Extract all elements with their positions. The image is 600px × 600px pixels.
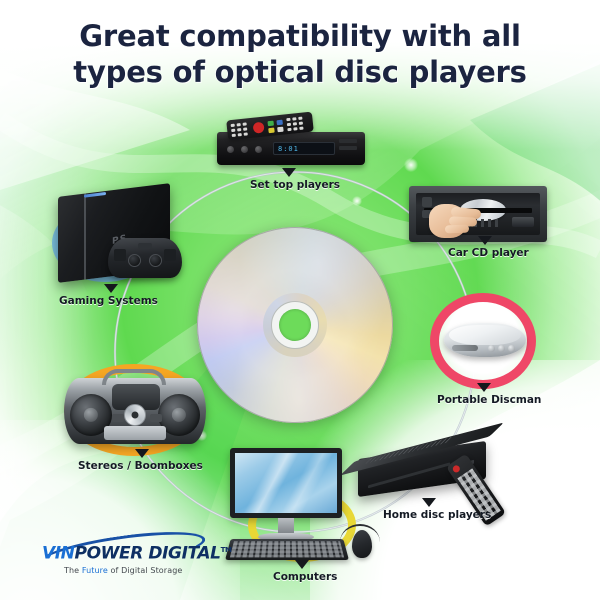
logo-wordmark: VINPOWER DIGITALTM bbox=[42, 540, 232, 564]
computer-monitor bbox=[230, 448, 342, 518]
label-car-cd-player: Car CD player bbox=[448, 247, 529, 259]
monitor-glare bbox=[235, 453, 337, 513]
headline: Great compatibility with all types of op… bbox=[0, 18, 600, 90]
headline-line-1: Great compatibility with all bbox=[0, 18, 600, 54]
label-computers: Computers bbox=[273, 571, 337, 583]
logo-trademark: TM bbox=[221, 546, 232, 554]
computer-keyboard bbox=[225, 539, 349, 560]
pointer-home-disc-players bbox=[422, 498, 436, 507]
boombox bbox=[64, 378, 206, 444]
pointer-set-top-players bbox=[282, 168, 296, 177]
logo-tagline-c: of Digital Storage bbox=[108, 566, 183, 575]
pointer-computers bbox=[295, 560, 309, 569]
disc-center-hole bbox=[279, 309, 311, 341]
boombox-control-panel bbox=[104, 426, 166, 440]
node-computers[interactable] bbox=[218, 444, 388, 564]
pointer-portable-discman bbox=[477, 383, 491, 392]
discman-lid bbox=[449, 325, 521, 345]
set-top-display-text: 8:01 bbox=[278, 145, 299, 153]
logo-brand-prefix: VIN bbox=[42, 544, 75, 564]
game-controller bbox=[108, 238, 182, 278]
node-gaming-systems[interactable]: PS bbox=[42, 182, 202, 294]
pointer-car-cd-player bbox=[478, 236, 492, 245]
label-set-top-players: Set top players bbox=[250, 179, 340, 191]
monitor-neck bbox=[278, 518, 294, 534]
portable-cd-player bbox=[444, 323, 526, 357]
node-stereos-boomboxes[interactable] bbox=[52, 362, 222, 458]
pointer-gaming-systems bbox=[104, 284, 118, 293]
headline-line-2: types of optical disc players bbox=[0, 54, 600, 90]
label-stereos-boomboxes: Stereos / Boomboxes bbox=[78, 460, 203, 472]
optical-disc bbox=[197, 227, 393, 423]
label-gaming-systems: Gaming Systems bbox=[59, 295, 158, 307]
computer-mouse bbox=[352, 530, 372, 558]
logo-brand-suffix: POWER DIGITAL bbox=[75, 544, 221, 564]
pointer-stereos-boomboxes bbox=[135, 449, 149, 458]
label-home-disc-players: Home disc players bbox=[383, 509, 491, 521]
brand-logo[interactable]: VINPOWER DIGITALTM The Future of Digital… bbox=[42, 540, 232, 575]
label-portable-discman: Portable Discman bbox=[437, 394, 541, 406]
boombox-disc bbox=[124, 404, 146, 426]
set-top-box-display: 8:01 bbox=[273, 142, 335, 155]
node-portable-discman[interactable] bbox=[430, 293, 548, 389]
boombox-handle bbox=[102, 369, 166, 385]
node-set-top-players[interactable]: 8:01 bbox=[205, 112, 385, 172]
infographic-canvas: Great compatibility with all types of op… bbox=[0, 0, 600, 600]
